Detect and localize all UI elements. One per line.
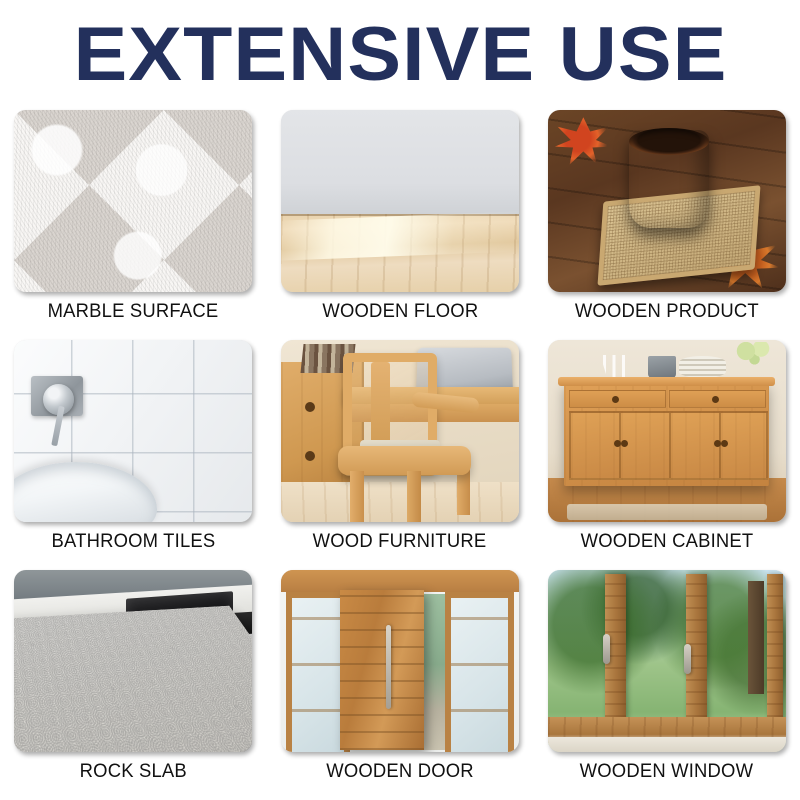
rock-slab-photo [14, 570, 252, 752]
chair-leg [350, 471, 364, 522]
tile-label: WOOD FURNITURE [313, 531, 487, 553]
wood-ceiling [281, 570, 519, 592]
cabinet-door [669, 411, 721, 481]
window-mullion [605, 574, 626, 741]
use-case-item-wooden-door[interactable]: WOODEN DOOR [267, 570, 534, 800]
use-case-item-wooden-floor[interactable]: WOODEN FLOOR [267, 110, 534, 340]
door-handle [386, 625, 391, 708]
wooden-product-photo [548, 110, 786, 292]
tree-trunk [748, 581, 765, 694]
marble-floor-photo [14, 110, 252, 292]
sill-inner [548, 737, 786, 752]
cabinet-knob [305, 451, 315, 461]
use-case-item-marble-surface[interactable]: MARBLE SURFACE [0, 110, 267, 340]
quartz-countertop [14, 606, 252, 752]
wooden-cabinet-photo [548, 340, 786, 522]
floor [281, 482, 519, 522]
flower-vase [733, 342, 776, 378]
rug [567, 504, 767, 520]
use-case-item-wood-furniture[interactable]: WOOD FURNITURE [267, 340, 534, 570]
pitcher [648, 356, 677, 378]
wooden-door-photo [281, 570, 519, 752]
use-case-item-bathroom-tiles[interactable]: BATHROOM TILES [0, 340, 267, 570]
marble-gloss [14, 110, 252, 292]
window-handle [684, 644, 691, 674]
tile-label: WOODEN FLOOR [322, 301, 478, 323]
tile-label: ROCK SLAB [80, 761, 187, 783]
chair-leg [407, 471, 421, 522]
cabinet-knob [305, 402, 315, 412]
quartz-speckle [14, 606, 252, 752]
wooden-window-photo [548, 570, 786, 752]
use-case-item-rock-slab[interactable]: ROCK SLAB [0, 570, 267, 800]
window-mullion [686, 574, 707, 741]
tile-label: WOODEN DOOR [326, 761, 474, 783]
cabinet-door [569, 411, 621, 481]
frosted-sidelight [445, 592, 514, 752]
door-panel [340, 590, 423, 750]
plates-stack [679, 356, 727, 378]
page-title: EXTENSIVE USE [73, 17, 727, 93]
use-case-item-wooden-cabinet[interactable]: WOODEN CABINET [533, 340, 800, 570]
wall [281, 110, 519, 214]
cabinet-top [558, 377, 775, 386]
wooden-floor-photo [281, 110, 519, 292]
floor-highlight [281, 211, 519, 260]
header-banner: EXTENSIVE USE [0, 0, 800, 110]
use-case-grid: MARBLE SURFACE WOODEN FLOOR WOODEN PRODU… [0, 110, 800, 800]
bathroom-tiles-photo [14, 340, 252, 522]
window-jamb [767, 574, 784, 741]
use-case-item-wooden-product[interactable]: WOODEN PRODUCT [533, 110, 800, 340]
tile-label: BATHROOM TILES [51, 531, 215, 553]
tile-label: MARBLE SURFACE [48, 301, 219, 323]
window-handle [603, 634, 610, 664]
tile-label: WOODEN PRODUCT [575, 301, 759, 323]
use-case-item-wooden-window[interactable]: WOODEN WINDOW [533, 570, 800, 800]
wood-furniture-photo [281, 340, 519, 522]
tile-label: WOODEN CABINET [580, 531, 753, 553]
tile-label: WOODEN WINDOW [580, 761, 753, 783]
